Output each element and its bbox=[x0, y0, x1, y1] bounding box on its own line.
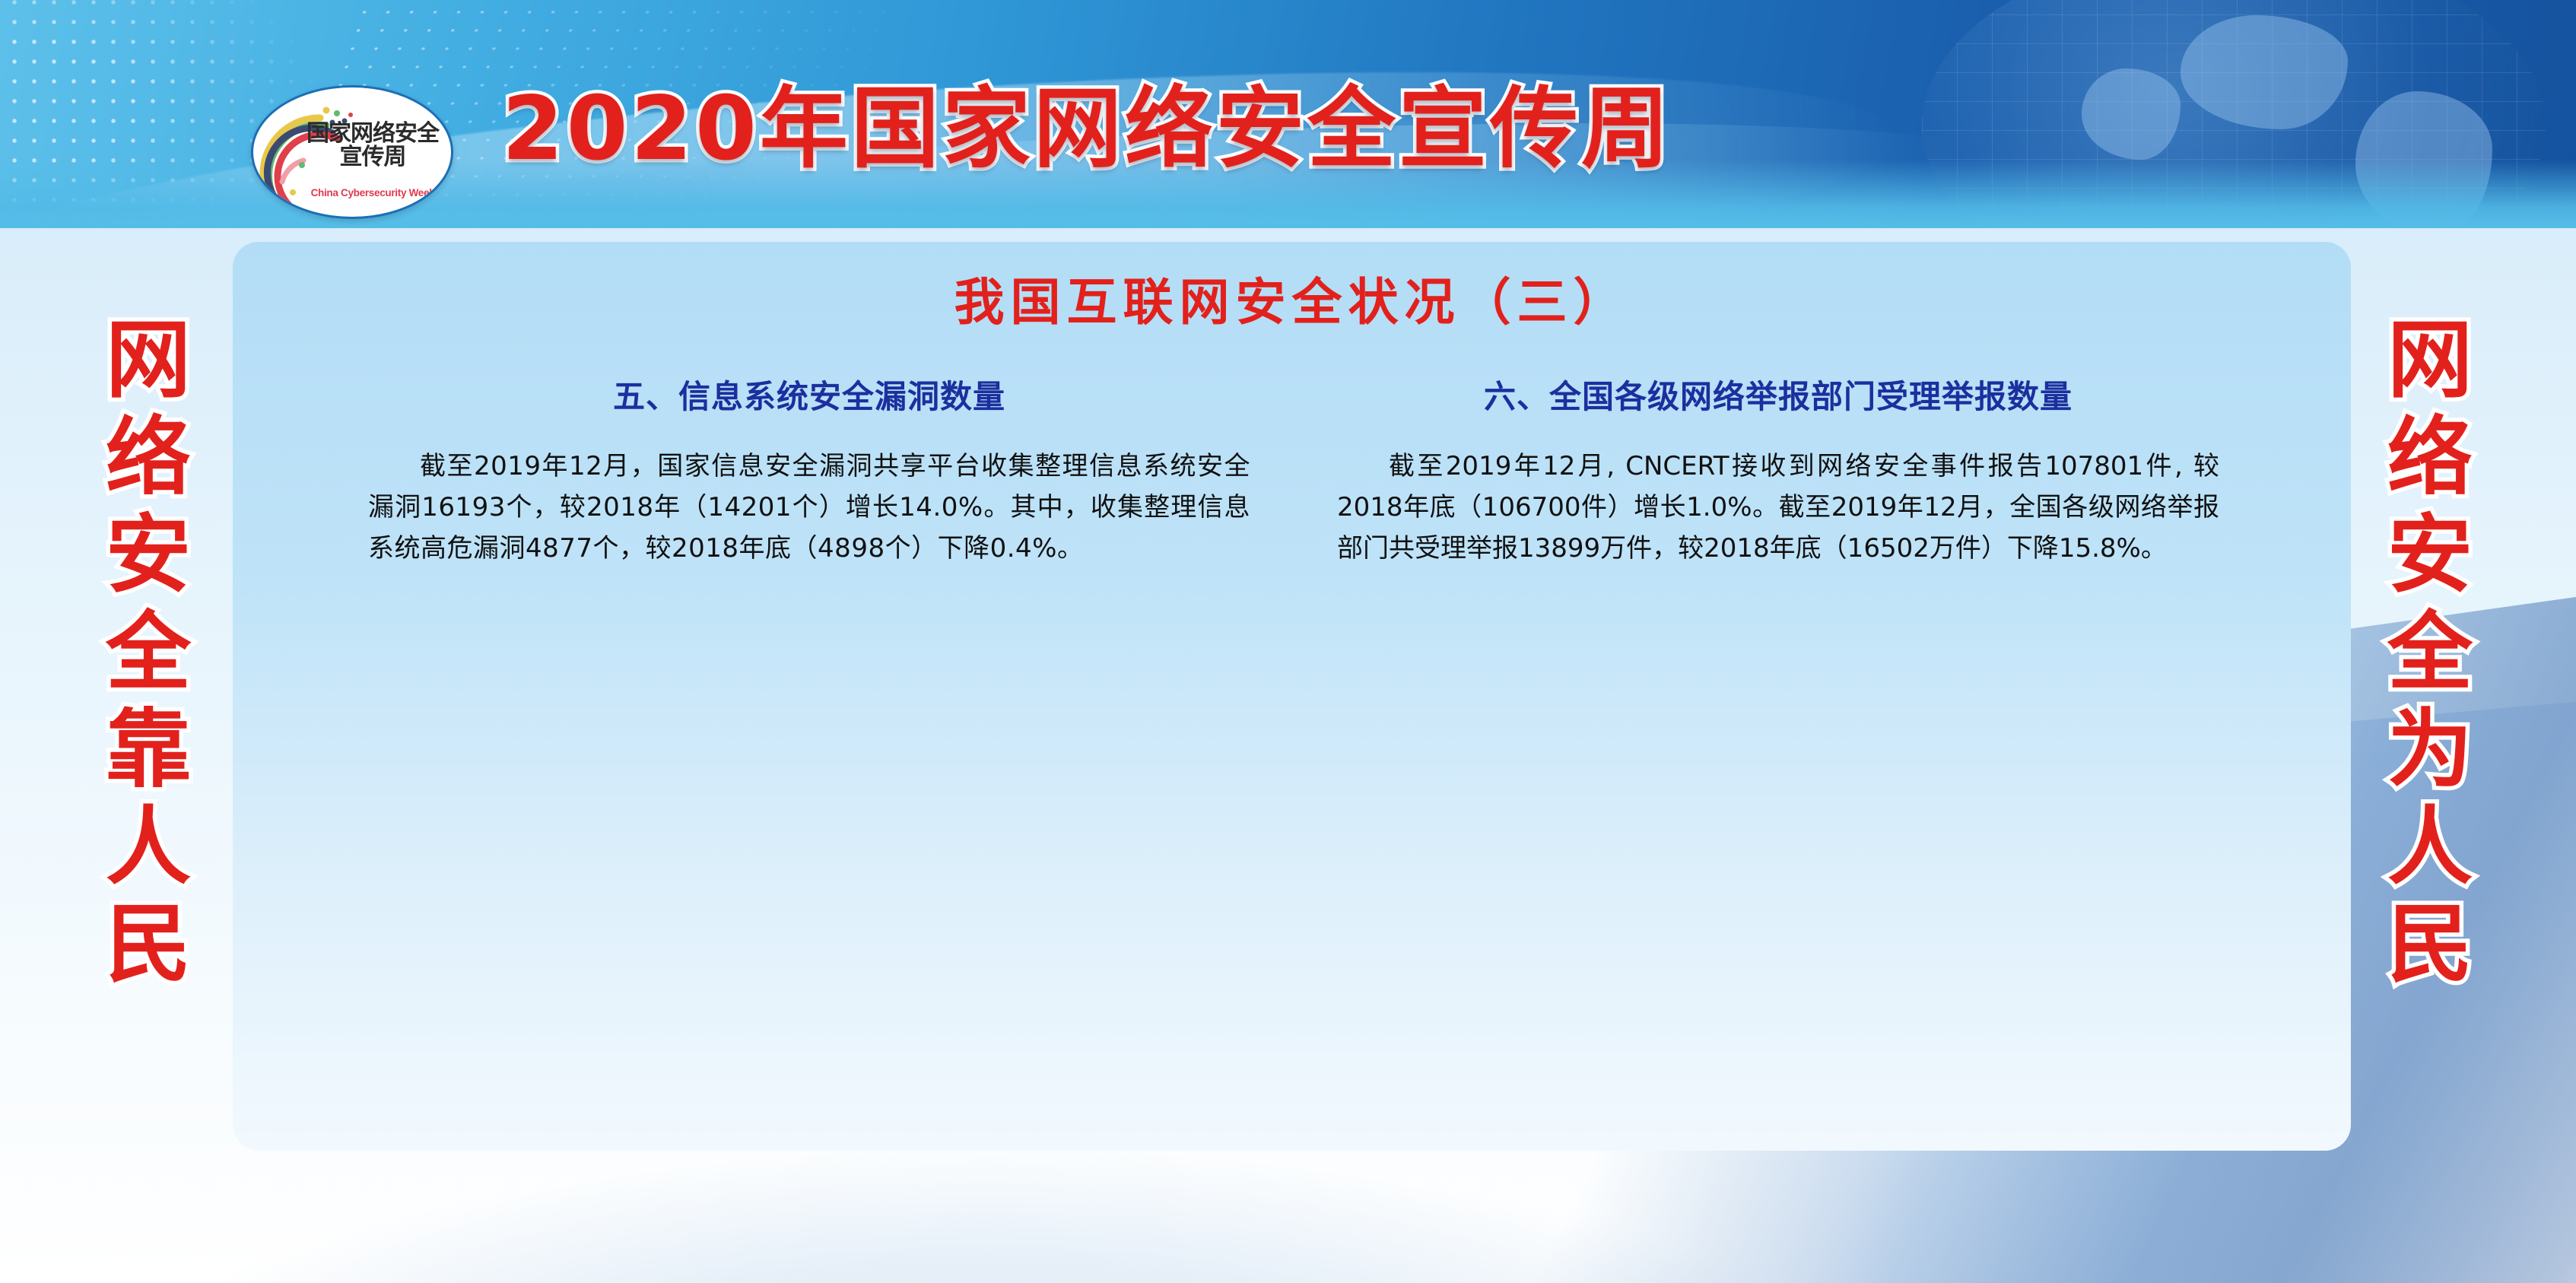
slogan-left-char-1: 网 bbox=[68, 312, 228, 409]
logo-cn-line1: 国家网络安全 bbox=[294, 122, 451, 146]
section-body-6: 截至2019年12月, CNCERT接收到网络安全事件报告107801件, 较2… bbox=[1337, 446, 2219, 569]
content-panel: 我国互联网安全状况（三） 五、信息系统安全漏洞数量 截至2019年12月，国家信… bbox=[233, 242, 2351, 1151]
logo-chinese-text: 国家网络安全 宣传周 bbox=[294, 122, 451, 169]
slogan-right-char-5: 为 bbox=[2350, 701, 2510, 799]
section-heading-6: 六、全国各级网络举报部门受理举报数量 bbox=[1337, 376, 2219, 418]
slogan-right-char-6: 人 bbox=[2350, 799, 2510, 896]
poster-main-title: 2020年国家网络安全宣传周 bbox=[502, 80, 1780, 179]
slogan-left-char-6: 人 bbox=[68, 799, 228, 896]
logo-english-text: China Cybersecurity Week bbox=[294, 187, 451, 198]
slogan-left: 网络安全靠人民 bbox=[68, 312, 228, 993]
slogan-left-char-4: 全 bbox=[68, 604, 228, 701]
slogan-left-char-2: 络 bbox=[68, 409, 228, 507]
poster-root: 国家网络安全 宣传周 China Cybersecurity Week 2020… bbox=[0, 0, 2576, 1283]
section-heading-5: 五、信息系统安全漏洞数量 bbox=[368, 376, 1250, 418]
slogan-left-char-3: 安 bbox=[68, 507, 228, 604]
section-body-5: 截至2019年12月，国家信息安全漏洞共享平台收集整理信息系统安全漏洞16193… bbox=[368, 446, 1250, 569]
slogan-right-char-3: 安 bbox=[2350, 507, 2510, 604]
slogan-right-char-1: 网 bbox=[2350, 312, 2510, 409]
slogan-right-char-2: 络 bbox=[2350, 409, 2510, 507]
slogan-right-char-7: 民 bbox=[2350, 896, 2510, 993]
slogan-left-char-5: 靠 bbox=[68, 701, 228, 799]
panel-subtitle: 我国互联网安全状况（三） bbox=[233, 272, 2351, 333]
section-column-left: 五、信息系统安全漏洞数量 截至2019年12月，国家信息安全漏洞共享平台收集整理… bbox=[368, 376, 1250, 569]
cybersecurity-week-logo: 国家网络安全 宣传周 China Cybersecurity Week bbox=[251, 85, 453, 219]
slogan-left-char-7: 民 bbox=[68, 896, 228, 993]
section-column-right: 六、全国各级网络举报部门受理举报数量 截至2019年12月, CNCERT接收到… bbox=[1337, 376, 2219, 569]
slogan-right-char-4: 全 bbox=[2350, 604, 2510, 701]
logo-cn-line2: 宣传周 bbox=[294, 146, 451, 170]
slogan-right: 网络安全为人民 bbox=[2350, 312, 2510, 993]
